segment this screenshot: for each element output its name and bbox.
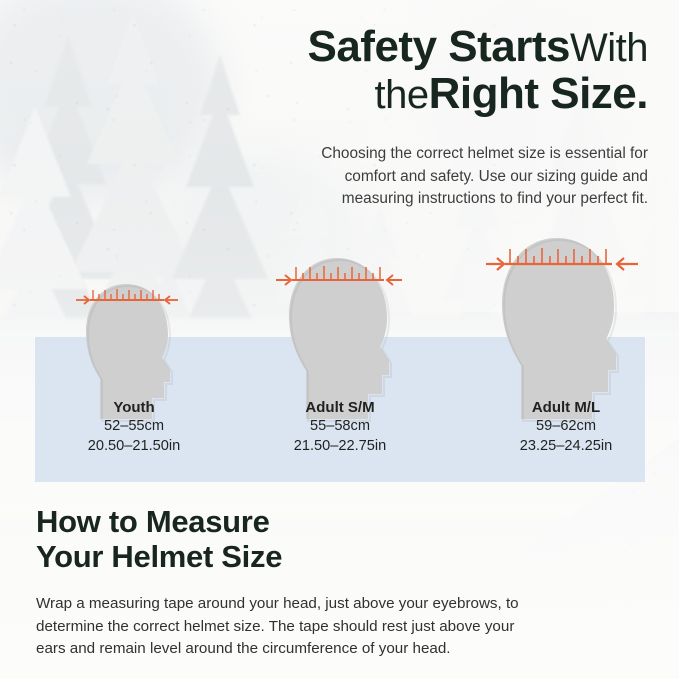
- size-name: Youth: [58, 398, 210, 417]
- headline-line-1: Safety StartsWith: [190, 24, 648, 71]
- head-silhouette-icon: [492, 220, 642, 420]
- size-cm: 59–62cm: [490, 417, 642, 437]
- intro-paragraph: Choosing the correct helmet size is esse…: [300, 143, 648, 210]
- how-to-measure-heading: How to Measure Your Helmet Size: [36, 504, 456, 575]
- headline-right-size: Right Size.: [429, 69, 648, 118]
- size-name: Adult M/L: [490, 398, 642, 417]
- size-entry-adult-ml: Adult M/L 59–62cm 23.25–24.25in: [490, 398, 642, 457]
- arrow-right-icon: [486, 258, 504, 270]
- helmet-size-guide-infographic: Safety StartsWith theRight Size. Choosin…: [0, 0, 679, 679]
- head-size-illustrations: [0, 240, 679, 420]
- how-to-heading-line-2: Your Helmet Size: [36, 539, 282, 574]
- how-to-measure-body: Wrap a measuring tape around your head, …: [36, 593, 528, 660]
- arrow-left-icon: [387, 275, 402, 285]
- size-inch: 20.50–21.50in: [58, 437, 210, 457]
- headline-with: With: [570, 26, 648, 70]
- size-entry-youth: Youth 52–55cm 20.50–21.50in: [58, 398, 210, 457]
- arrow-left-icon: [165, 296, 178, 304]
- arrow-right-icon: [76, 296, 89, 304]
- size-name: Adult S/M: [264, 398, 416, 417]
- size-inch: 21.50–22.75in: [264, 437, 416, 457]
- head-figure-adult-sm: [280, 242, 410, 420]
- headline-line-2: theRight Size.: [190, 71, 648, 118]
- headline-safety-starts: Safety Starts: [307, 22, 570, 71]
- size-cm: 55–58cm: [264, 417, 416, 437]
- size-entry-adult-sm: Adult S/M 55–58cm 21.50–22.75in: [264, 398, 416, 457]
- headline-the: the: [374, 73, 428, 117]
- how-to-heading-line-1: How to Measure: [36, 504, 270, 539]
- head-figure-adult-ml: [492, 220, 642, 420]
- head-silhouette-icon: [280, 242, 410, 420]
- size-inch: 23.25–24.25in: [490, 437, 642, 457]
- page-title: Safety StartsWith theRight Size.: [190, 24, 648, 117]
- arrow-left-icon: [617, 258, 638, 270]
- arrow-right-icon: [276, 275, 291, 285]
- size-cm: 52–55cm: [58, 417, 210, 437]
